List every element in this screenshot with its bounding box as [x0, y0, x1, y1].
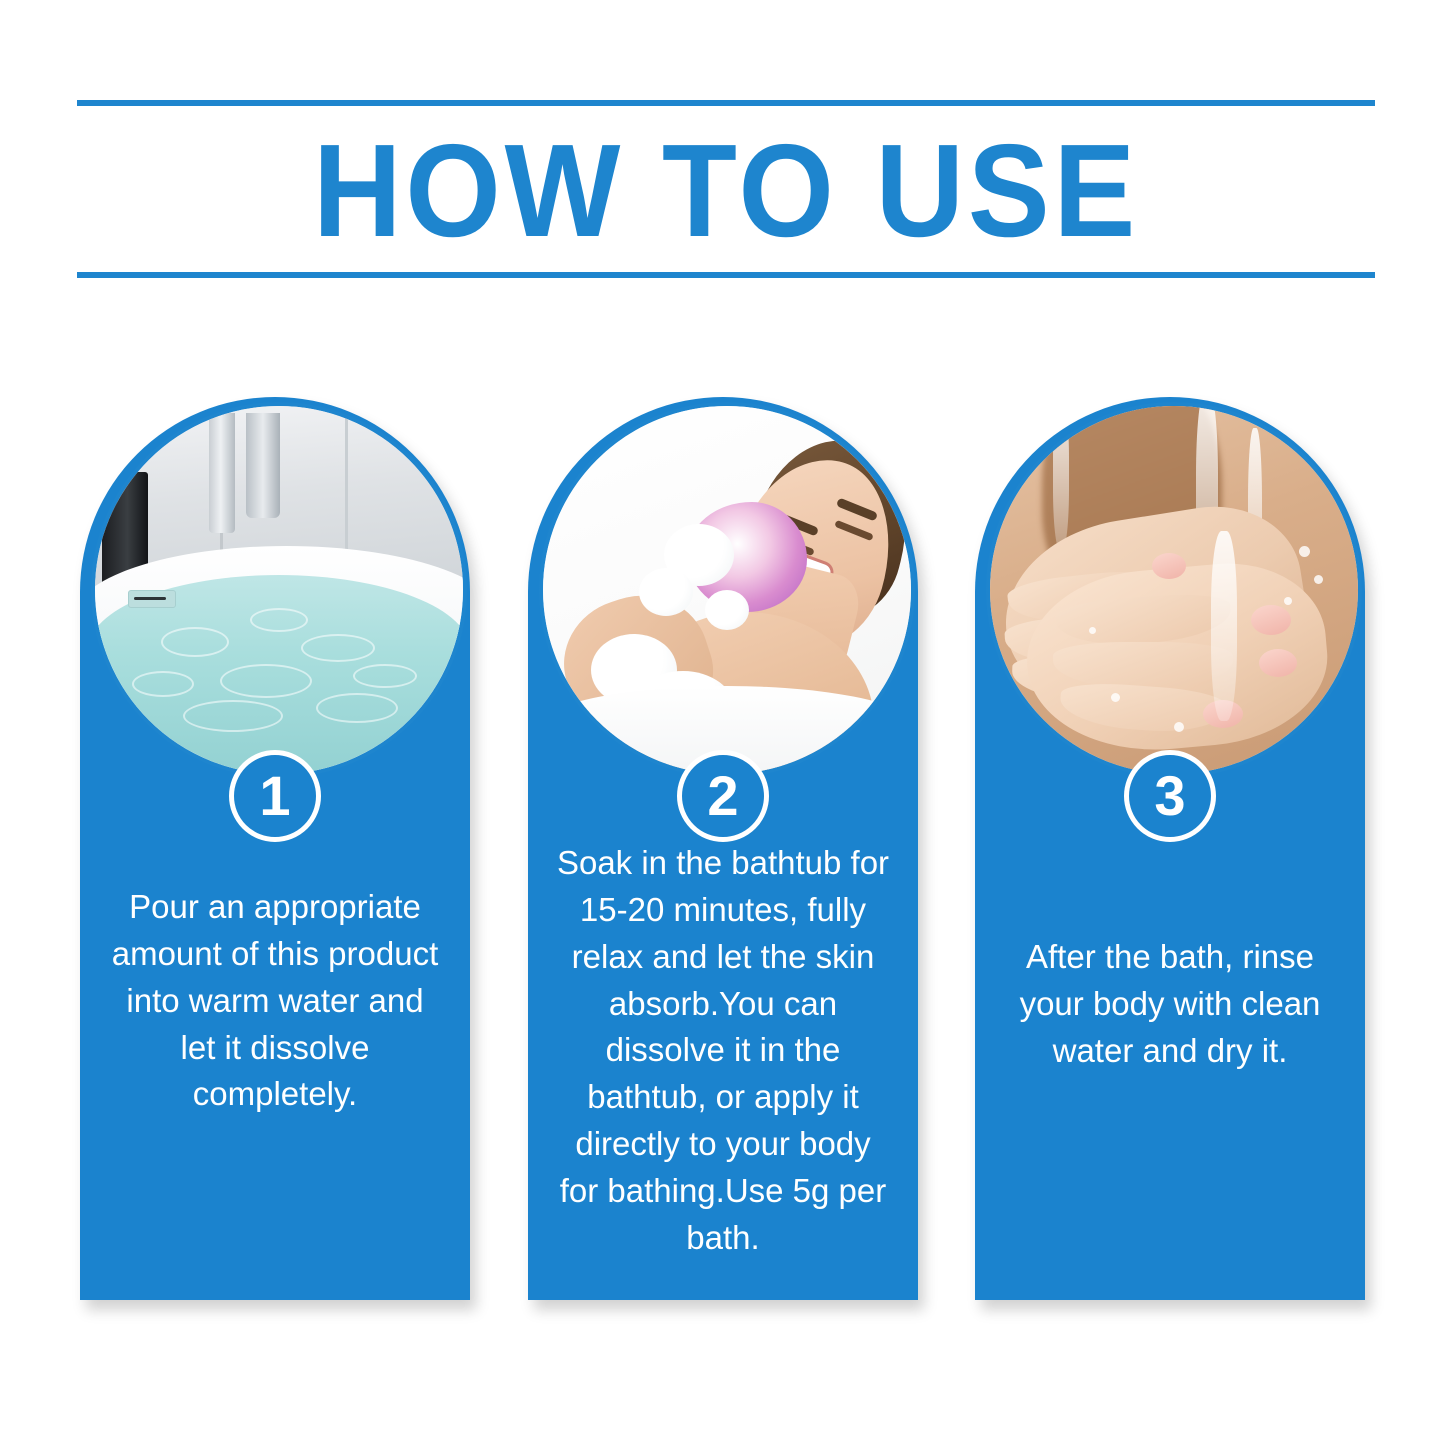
step-card-3: 3 After the bath, rinse your body with c… [975, 397, 1365, 1300]
bathtub-filled-with-water-photo [91, 402, 467, 778]
step-number-badge-2: 2 [677, 750, 769, 842]
steps-container: 1 Pour an appropriate amount of this pro… [0, 0, 1445, 1445]
step-card-2: 2 Soak in the bathtub for 15-20 minutes,… [528, 397, 918, 1300]
step-number-badge-3: 3 [1124, 750, 1216, 842]
step-number-badge-1: 1 [229, 750, 321, 842]
step-caption-3: After the bath, rinse your body with cle… [1001, 934, 1339, 1075]
scene-woman-bathing [543, 406, 911, 774]
step-caption-2: Soak in the bathtub for 15-20 minutes, f… [554, 840, 892, 1262]
scene-hands-rinsing [990, 406, 1358, 774]
step-card-1: 1 Pour an appropriate amount of this pro… [80, 397, 470, 1300]
step-caption-1: Pour an appropriate amount of this produ… [106, 884, 444, 1118]
hands-rinsing-under-running-water-photo [986, 402, 1362, 778]
scene-bathtub [95, 406, 463, 774]
woman-soaking-in-bubble-bath-photo [539, 402, 915, 778]
